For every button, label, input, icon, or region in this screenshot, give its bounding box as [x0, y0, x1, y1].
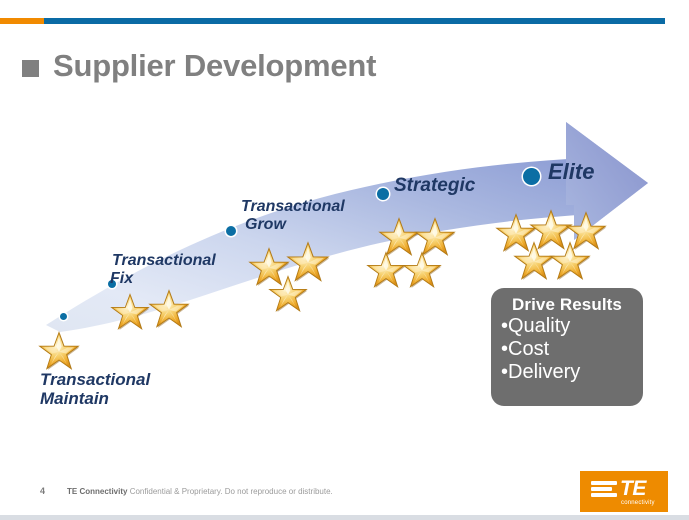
drive-results-item-delivery: •Delivery — [491, 361, 643, 384]
stage-dot-elite — [523, 168, 540, 185]
stage-label-strategic: Strategic — [394, 175, 475, 196]
stage-label-strategic-line1: Strategic — [394, 175, 475, 196]
star-icon — [549, 240, 591, 282]
footer-brand: TE Connectivity — [67, 487, 127, 496]
star-group-grow — [248, 240, 348, 325]
footer-legal: Confidential & Proprietary. Do not repro… — [127, 487, 332, 496]
stage-label-maintain-line2: Maintain — [40, 389, 109, 408]
star-group-fix — [110, 288, 200, 338]
drive-results-item-cost: •Cost — [491, 338, 643, 361]
drive-results-title: Drive Results — [491, 295, 643, 315]
supplier-development-diagram: TransactionalMaintain TransactionalFix T… — [0, 0, 689, 520]
star-group-maintain — [38, 330, 98, 380]
star-icon — [148, 288, 190, 330]
stage-label-grow-line1: Transactional — [241, 198, 345, 215]
stage-label-elite: Elite — [548, 160, 594, 185]
slide-canvas: Supplier Development — [0, 0, 689, 520]
te-bars-icon — [591, 481, 617, 498]
footer-rule — [0, 515, 689, 520]
drive-results-box: Drive Results •Quality •Cost •Delivery — [491, 288, 643, 406]
star-icon — [268, 274, 308, 314]
stage-label-fix-line1: Transactional — [112, 252, 216, 269]
footer-legal-text: TE Connectivity Confidential & Proprieta… — [67, 487, 333, 496]
stage-dot-grow — [226, 226, 236, 236]
star-group-elite — [495, 208, 625, 293]
star-icon — [414, 216, 456, 258]
star-group-strategic — [366, 216, 466, 306]
stage-dot-strategic — [377, 188, 389, 200]
page-number: 4 — [40, 486, 45, 496]
stage-dot-maintain — [60, 313, 67, 320]
stage-label-grow-line2: Grow — [245, 216, 286, 233]
stage-label-grow: TransactionalGrow — [241, 198, 345, 234]
stage-label-fix-line2: Fix — [110, 270, 133, 287]
te-connectivity-logo: TE connectivity — [580, 471, 668, 512]
drive-results-item-quality: •Quality — [491, 315, 643, 338]
stage-label-fix: TransactionalFix — [112, 252, 216, 288]
te-wordmark: TE — [620, 477, 646, 501]
star-icon — [38, 330, 80, 372]
footer: 4 TE Connectivity Confidential & Proprie… — [40, 486, 333, 496]
stage-label-elite-line1: Elite — [548, 159, 594, 184]
te-tagline: connectivity — [621, 500, 655, 506]
star-icon — [110, 292, 150, 332]
